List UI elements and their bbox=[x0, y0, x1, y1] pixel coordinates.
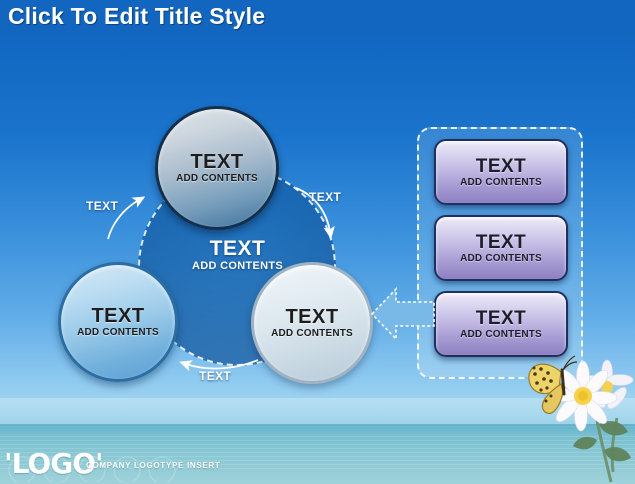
panel-box-2-subheading[interactable]: ADD CONTENTS bbox=[460, 254, 542, 264]
arrow-right-label[interactable]: TEXT bbox=[309, 190, 341, 204]
node-right-heading[interactable]: TEXT bbox=[285, 307, 338, 327]
node-left-subheading[interactable]: ADD CONTENTS bbox=[77, 328, 159, 338]
panel-box-2-heading[interactable]: TEXT bbox=[476, 233, 527, 252]
footer-tagline: COMPANY LOGOTYPE INSERT bbox=[86, 461, 220, 470]
diagram-node-top[interactable]: TEXT ADD CONTENTS bbox=[155, 106, 279, 230]
left-arrow-icon[interactable] bbox=[370, 283, 436, 345]
panel-box-1-subheading[interactable]: ADD CONTENTS bbox=[460, 178, 542, 188]
panel-box-1[interactable]: TEXT ADD CONTENTS bbox=[434, 139, 568, 205]
panel-box-1-heading[interactable]: TEXT bbox=[476, 157, 527, 176]
diagram-node-right[interactable]: TEXT ADD CONTENTS bbox=[251, 262, 373, 384]
node-top-subheading[interactable]: ADD CONTENTS bbox=[176, 174, 258, 184]
node-left-heading[interactable]: TEXT bbox=[91, 306, 144, 326]
node-top-heading[interactable]: TEXT bbox=[190, 152, 243, 172]
arrow-left-label[interactable]: TEXT bbox=[86, 199, 118, 213]
arrow-bottom-label[interactable]: TEXT bbox=[199, 369, 231, 383]
panel-box-3-subheading[interactable]: ADD CONTENTS bbox=[460, 330, 542, 340]
panel-box-3[interactable]: TEXT ADD CONTENTS bbox=[434, 291, 568, 357]
slide-canvas: Click To Edit Title Style TEXT ADD CONTE… bbox=[0, 0, 635, 484]
page-title[interactable]: Click To Edit Title Style bbox=[8, 3, 265, 30]
center-hub-heading[interactable]: TEXT bbox=[160, 238, 315, 259]
sky-lower-band bbox=[0, 398, 635, 424]
diagram-node-left[interactable]: TEXT ADD CONTENTS bbox=[58, 262, 178, 382]
node-right-subheading[interactable]: ADD CONTENTS bbox=[271, 329, 353, 339]
panel-box-2[interactable]: TEXT ADD CONTENTS bbox=[434, 215, 568, 281]
panel-box-3-heading[interactable]: TEXT bbox=[476, 309, 527, 328]
